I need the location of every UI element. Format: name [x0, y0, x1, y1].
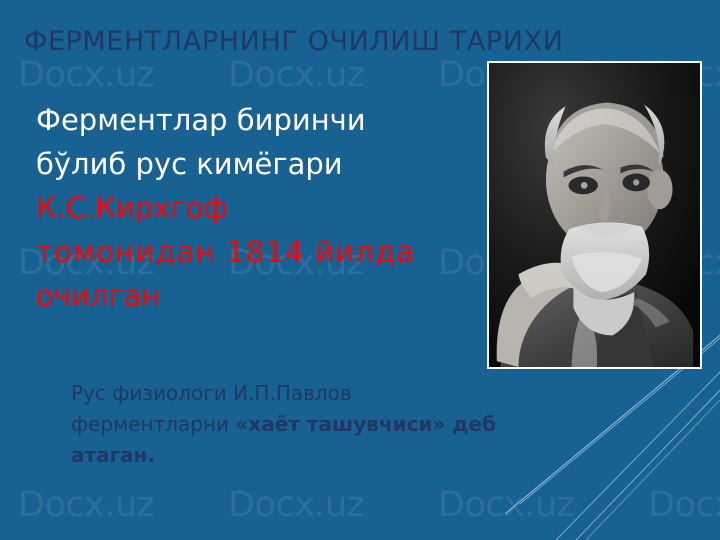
watermark-docx-uz: Docx.uz: [18, 55, 155, 95]
main-text-block: Ферментлар биринчи бўлиб рус кимёгари К.…: [36, 98, 506, 318]
sub-line-2: ферментларни «хаёт ташувчиси» деб: [71, 409, 671, 440]
watermark-docx-uz: Docx.uz: [438, 485, 575, 525]
sub-line-2-bold: «хаёт ташувчиси» деб: [235, 412, 496, 436]
body-line-5: очилган: [36, 274, 506, 318]
watermark-docx-uz: Docx.uz: [18, 485, 155, 525]
portrait-photograph: [489, 63, 700, 367]
sub-paragraph: Рус физиологи И.П.Павлов ферментларни «х…: [71, 378, 671, 471]
presentation-slide: Docx.uzDocx.uzDocx.uzDocx.uzDocx.uzDocx.…: [0, 0, 720, 540]
portrait-photo-frame: [487, 61, 702, 369]
body-line-3-name: К.С.Кирхгоф: [36, 186, 506, 230]
page-title: ФЕРМЕНТЛАРНИНГ ОЧИЛИШ ТАРИХИ: [24, 26, 684, 58]
watermark-docx-uz: Docx.uz: [228, 55, 365, 95]
sub-line-3-bold: атаган.: [71, 440, 671, 471]
watermark-docx-uz: Docx.uz: [648, 485, 720, 525]
sub-line-1: Рус физиологи И.П.Павлов: [71, 378, 671, 409]
body-line-4-year: томонидан 1814 йилда: [36, 230, 506, 274]
watermark-docx-uz: Docx.uz: [228, 485, 365, 525]
body-line-2: бўлиб рус кимёгари: [36, 142, 506, 186]
body-line-1: Ферментлар биринчи: [36, 98, 506, 142]
sub-line-2-regular: ферментларни: [71, 412, 235, 436]
